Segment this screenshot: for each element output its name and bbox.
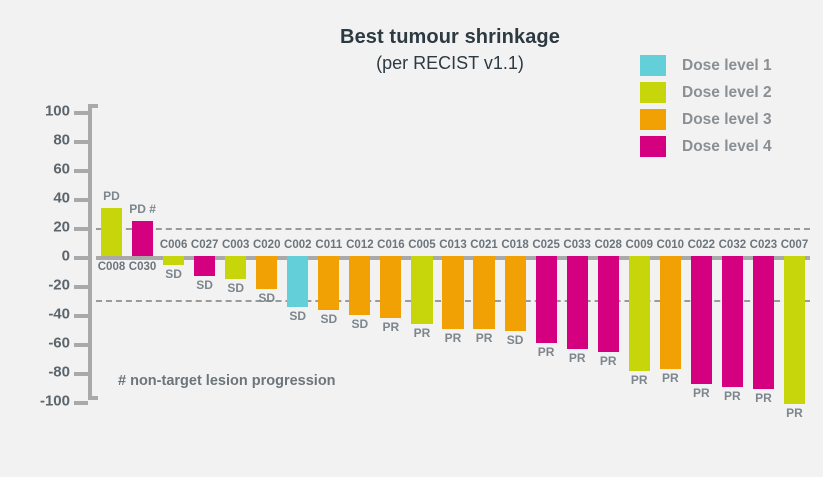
bar-group[interactable]: C022PR <box>691 106 712 400</box>
bar-response-label: PD <box>103 189 120 203</box>
bar-response-label: PR <box>476 331 493 345</box>
bar-subject-id: C007 <box>781 239 809 251</box>
bar-group[interactable]: C003SD <box>225 106 246 400</box>
bar-response-label: SD <box>320 312 337 326</box>
bar-subject-id: C021 <box>470 239 498 251</box>
bar-response-label: PR <box>693 386 710 400</box>
legend-item-label: Dose level 1 <box>682 57 772 75</box>
bar-response-label: PR <box>445 331 462 345</box>
bar-subject-id: C011 <box>315 239 342 251</box>
y-axis-tick <box>74 314 88 318</box>
bar[interactable] <box>784 256 805 404</box>
bar[interactable] <box>442 256 463 329</box>
y-axis-tick <box>74 285 88 289</box>
bar-subject-id: C002 <box>284 239 312 251</box>
bar-response-label: SD <box>289 309 306 323</box>
bar-group[interactable]: C010PR <box>660 106 681 400</box>
bar-group[interactable]: C032PR <box>722 106 743 400</box>
bar[interactable] <box>598 256 619 352</box>
y-axis-tick-label: 0 <box>62 248 70 265</box>
bar[interactable] <box>691 256 712 384</box>
bar-subject-id: C020 <box>253 239 281 251</box>
y-axis-tick <box>74 111 88 115</box>
y-axis-tick <box>74 256 88 260</box>
y-axis-tick <box>74 169 88 173</box>
bar-subject-id: C003 <box>222 239 250 251</box>
y-axis-tick <box>74 401 88 405</box>
bar[interactable] <box>753 256 774 389</box>
y-axis-tick-label: -20 <box>48 277 70 294</box>
bar-group[interactable]: C018SD <box>505 106 526 400</box>
bar-response-label: SD <box>165 267 182 281</box>
bar-response-label: PR <box>600 354 617 368</box>
bar-subject-id: C012 <box>346 239 374 251</box>
bar[interactable] <box>411 256 432 324</box>
bar-group[interactable]: C016PR <box>380 106 401 400</box>
bar-response-label: PR <box>414 326 431 340</box>
bar[interactable] <box>722 256 743 387</box>
bar-group[interactable]: C023PR <box>753 106 774 400</box>
bar[interactable] <box>318 256 339 310</box>
bar[interactable] <box>567 256 588 349</box>
bar-group[interactable]: C009PR <box>629 106 650 400</box>
bar-group[interactable]: C011SD <box>318 106 339 400</box>
y-axis-tick-label: -80 <box>48 364 70 381</box>
y-axis-tick <box>74 140 88 144</box>
y-axis-tick-label: -60 <box>48 335 70 352</box>
bar-subject-id: C033 <box>563 239 591 251</box>
bar-subject-id: C032 <box>719 239 747 251</box>
bar[interactable] <box>163 256 184 265</box>
bar-group[interactable]: C025PR <box>536 106 557 400</box>
chart-subtitle: (per RECIST v1.1) <box>180 51 720 75</box>
bar-group[interactable]: C013PR <box>442 106 463 400</box>
bar-group[interactable]: C007PR <box>784 106 805 400</box>
bar[interactable] <box>101 208 122 256</box>
bar-group[interactable]: C012SD <box>349 106 370 400</box>
legend-item[interactable]: Dose level 2 <box>640 79 772 106</box>
title-block: Best tumour shrinkage (per RECIST v1.1) <box>180 24 720 75</box>
y-axis-tick <box>74 227 88 231</box>
footnote: # non-target lesion progression <box>118 373 336 389</box>
bar-group[interactable]: C020SD <box>256 106 277 400</box>
bar-group[interactable]: C033PR <box>567 106 588 400</box>
bar[interactable] <box>536 256 557 343</box>
legend-item-label: Dose level 2 <box>682 84 772 102</box>
bar-group[interactable]: C005PR <box>411 106 432 400</box>
bar[interactable] <box>660 256 681 369</box>
bar-group[interactable]: C006SD <box>163 106 184 400</box>
bar-response-label: SD <box>352 317 369 331</box>
bar-group[interactable]: C030PD # <box>132 106 153 400</box>
bar-response-label: PR <box>569 351 586 365</box>
bar-subject-id: C008 <box>98 261 126 273</box>
legend-item[interactable]: Dose level 1 <box>640 52 772 79</box>
y-axis-tick-label: 40 <box>53 190 70 207</box>
bar-subject-id: C025 <box>532 239 560 251</box>
y-axis-tick <box>74 343 88 347</box>
bar-response-label: PR <box>538 345 555 359</box>
bar-subject-id: C013 <box>439 239 467 251</box>
bar[interactable] <box>194 256 215 276</box>
y-axis-tick <box>74 372 88 376</box>
bar-response-label: SD <box>258 291 275 305</box>
bar-response-label: PD # <box>129 202 156 216</box>
bar[interactable] <box>505 256 526 331</box>
y-axis-tick <box>74 198 88 202</box>
bar-response-label: PR <box>755 391 772 405</box>
y-axis-tick-label: -40 <box>48 306 70 323</box>
bar[interactable] <box>349 256 370 315</box>
bar-group[interactable]: C027SD <box>194 106 215 400</box>
bar-subject-id: C027 <box>191 239 219 251</box>
bar-response-label: PR <box>631 373 648 387</box>
plot-area: C008PDC030PD #C006SDC027SDC003SDC020SDC0… <box>96 106 810 400</box>
bar-series: C008PDC030PD #C006SDC027SDC003SDC020SDC0… <box>96 106 810 400</box>
bar-group[interactable]: C008PD <box>101 106 122 400</box>
bar[interactable] <box>473 256 494 329</box>
bar-group[interactable]: C002SD <box>287 106 308 400</box>
bar-subject-id: C006 <box>160 239 188 251</box>
bar-subject-id: C009 <box>626 239 654 251</box>
bar[interactable] <box>256 256 277 289</box>
y-axis-tick-label: 60 <box>53 161 70 178</box>
bar-subject-id: C028 <box>594 239 622 251</box>
y-axis-tick-label: 100 <box>45 103 70 120</box>
bar-subject-id: C010 <box>657 239 685 251</box>
bar-subject-id: C022 <box>688 239 716 251</box>
bar-group[interactable]: C021PR <box>473 106 494 400</box>
bar-subject-id: C018 <box>501 239 529 251</box>
bar-subject-id: C023 <box>750 239 778 251</box>
bar[interactable] <box>225 256 246 279</box>
bar-response-label: PR <box>383 320 400 334</box>
bar-response-label: PR <box>724 389 741 403</box>
y-axis-tick-label: 80 <box>53 132 70 149</box>
page-title: Best tumour shrinkage <box>180 24 720 50</box>
bar-response-label: SD <box>196 278 213 292</box>
bar-response-label: PR <box>662 371 679 385</box>
bar-subject-id: C005 <box>408 239 436 251</box>
bar-response-label: SD <box>507 333 524 347</box>
bar[interactable] <box>380 256 401 318</box>
bar-response-label: PR <box>786 406 803 420</box>
waterfall-chart: Best tumour shrinkage (per RECIST v1.1) … <box>0 0 823 477</box>
bar-group[interactable]: C028PR <box>598 106 619 400</box>
bar[interactable] <box>287 256 308 307</box>
legend-swatch-icon <box>640 82 666 103</box>
legend-swatch-icon <box>640 55 666 76</box>
bar[interactable] <box>132 221 153 256</box>
bar-response-label: SD <box>227 281 244 295</box>
y-axis-tick-label: -100 <box>40 393 70 410</box>
bar[interactable] <box>629 256 650 371</box>
bar-subject-id: C016 <box>377 239 405 251</box>
bar-subject-id: C030 <box>129 261 157 273</box>
y-axis-tick-label: 20 <box>53 219 70 236</box>
